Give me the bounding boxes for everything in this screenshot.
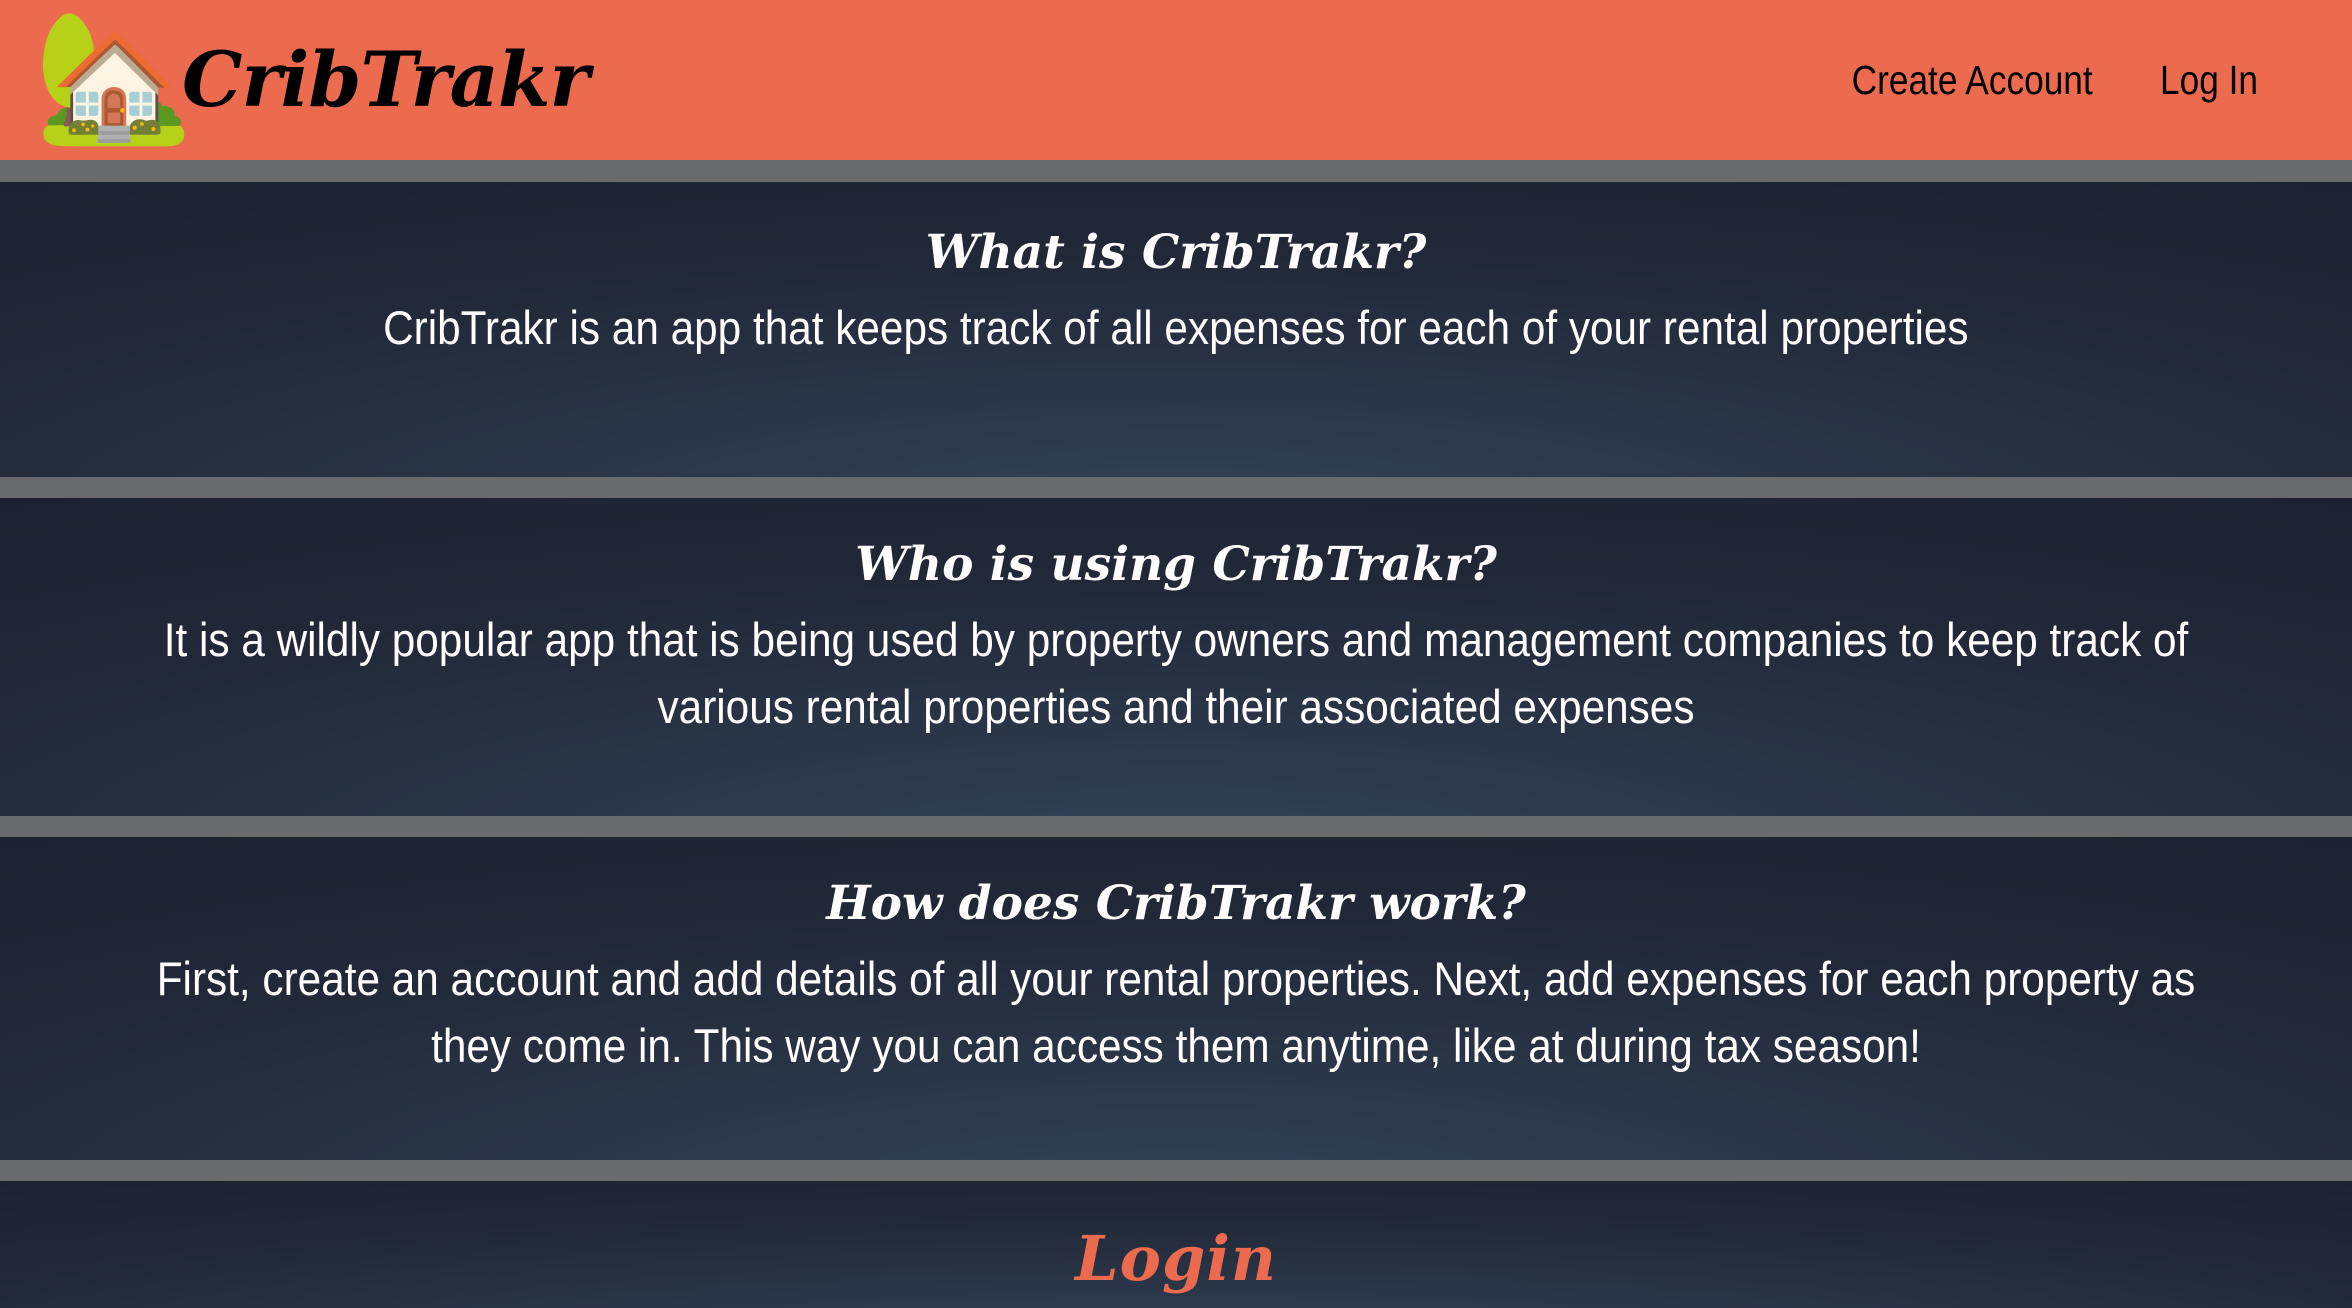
brand-name: CribTrakr <box>182 42 589 118</box>
section-how-it-works: How does CribTrakr work? First, create a… <box>0 837 2352 1160</box>
section-heading-what-is: What is CribTrakr? <box>926 226 1427 280</box>
section-body-what-is: CribTrakr is an app that keeps track of … <box>383 294 1968 361</box>
section-login: Login <box>0 1181 2352 1308</box>
brand-logo[interactable]: 🏡 CribTrakr <box>34 19 589 141</box>
house-with-garden-icon: 🏡 <box>34 13 174 141</box>
site-header: 🏡 CribTrakr Create Account Log In <box>0 0 2352 160</box>
divider-3 <box>0 1160 2352 1181</box>
section-body-how-it-works: First, create an account and add details… <box>137 945 2214 1079</box>
section-body-who-is-using: It is a wildly popular app that is being… <box>137 606 2214 740</box>
nav-link-log-in[interactable]: Log In <box>2160 57 2258 104</box>
divider-2 <box>0 816 2352 837</box>
section-heading-who-is-using: Who is using CribTrakr? <box>855 538 1497 592</box>
login-heading[interactable]: Login <box>1075 1228 1277 1290</box>
section-who-is-using: Who is using CribTrakr? It is a wildly p… <box>0 498 2352 816</box>
main-nav: Create Account Log In <box>1832 57 2322 104</box>
section-heading-how-it-works: How does CribTrakr work? <box>826 877 1526 931</box>
divider-header <box>0 160 2352 182</box>
section-what-is: What is CribTrakr? CribTrakr is an app t… <box>0 182 2352 477</box>
nav-link-create-account[interactable]: Create Account <box>1851 57 2092 104</box>
divider-1 <box>0 477 2352 498</box>
